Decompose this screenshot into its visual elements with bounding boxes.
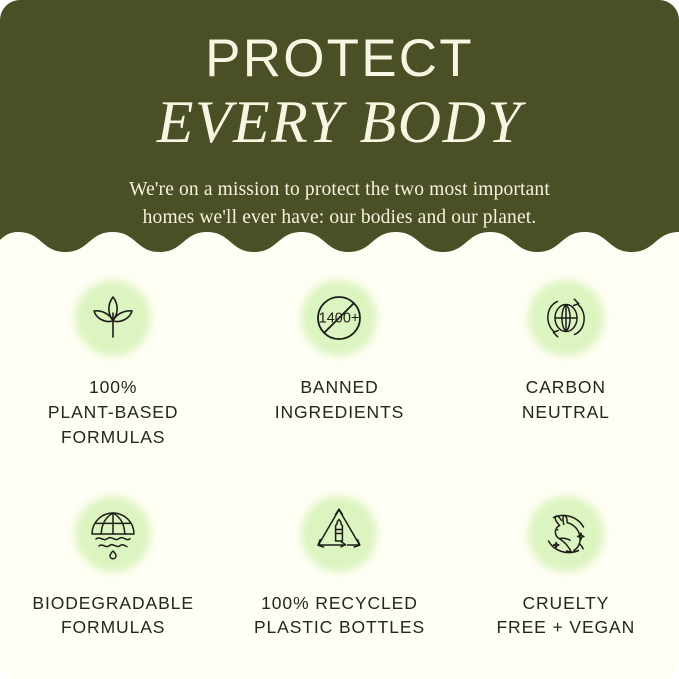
feature-label: CARBON NEUTRAL xyxy=(522,360,610,425)
feature-banned-ingredients: 1400+ BANNED INGREDIENTS xyxy=(226,276,452,450)
feature-label: CRUELTY FREE + VEGAN xyxy=(496,576,635,641)
feature-icon-badge xyxy=(71,492,155,576)
hero-banner: PROTECT EVERY BODY We're on a mission to… xyxy=(0,0,679,262)
feature-label: 100% RECYCLED PLASTIC BOTTLES xyxy=(254,576,425,641)
recycled-bottle-icon xyxy=(309,504,369,564)
feature-icon-badge xyxy=(524,492,608,576)
feature-recycled-bottles: 100% RECYCLED PLASTIC BOTTLES xyxy=(226,492,452,641)
feature-biodegradable: BIODEGRADABLE FORMULAS xyxy=(0,492,226,641)
hero-title-secondary: EVERY BODY xyxy=(0,87,679,154)
feature-plant-based: 100% PLANT-BASED FORMULAS xyxy=(0,276,226,450)
plant-leaves-icon xyxy=(83,288,143,348)
hero-title-primary: PROTECT xyxy=(0,0,679,87)
feature-grid: 100% PLANT-BASED FORMULAS 1400+ BANNED I… xyxy=(0,276,679,640)
feature-label: BIODEGRADABLE FORMULAS xyxy=(32,576,193,641)
feature-label: BANNED INGREDIENTS xyxy=(275,360,405,425)
feature-label: 100% PLANT-BASED FORMULAS xyxy=(48,360,179,450)
brand-values-poster: PROTECT EVERY BODY We're on a mission to… xyxy=(0,0,679,679)
banned-count-text: 1400+ xyxy=(319,311,360,327)
feature-cruelty-free: CRUELTY FREE + VEGAN xyxy=(453,492,679,641)
hero-subtitle-line-2: homes we'll ever have: our bodies and ou… xyxy=(0,204,679,232)
feature-carbon-neutral: CARBON NEUTRAL xyxy=(453,276,679,450)
feature-icon-badge xyxy=(71,276,155,360)
carbon-neutral-globe-icon xyxy=(536,288,596,348)
feature-icon-badge: 1400+ xyxy=(297,276,381,360)
banned-1400-plus-icon: 1400+ xyxy=(309,288,369,348)
hero-text-block: PROTECT EVERY BODY We're on a mission to… xyxy=(0,0,679,232)
hero-subtitle: We're on a mission to protect the two mo… xyxy=(0,154,679,233)
hero-subtitle-line-1: We're on a mission to protect the two mo… xyxy=(0,176,679,204)
cruelty-free-rabbit-icon xyxy=(536,504,596,564)
feature-icon-badge xyxy=(524,276,608,360)
biodegradable-globe-water-icon xyxy=(83,504,143,564)
feature-icon-badge xyxy=(297,492,381,576)
